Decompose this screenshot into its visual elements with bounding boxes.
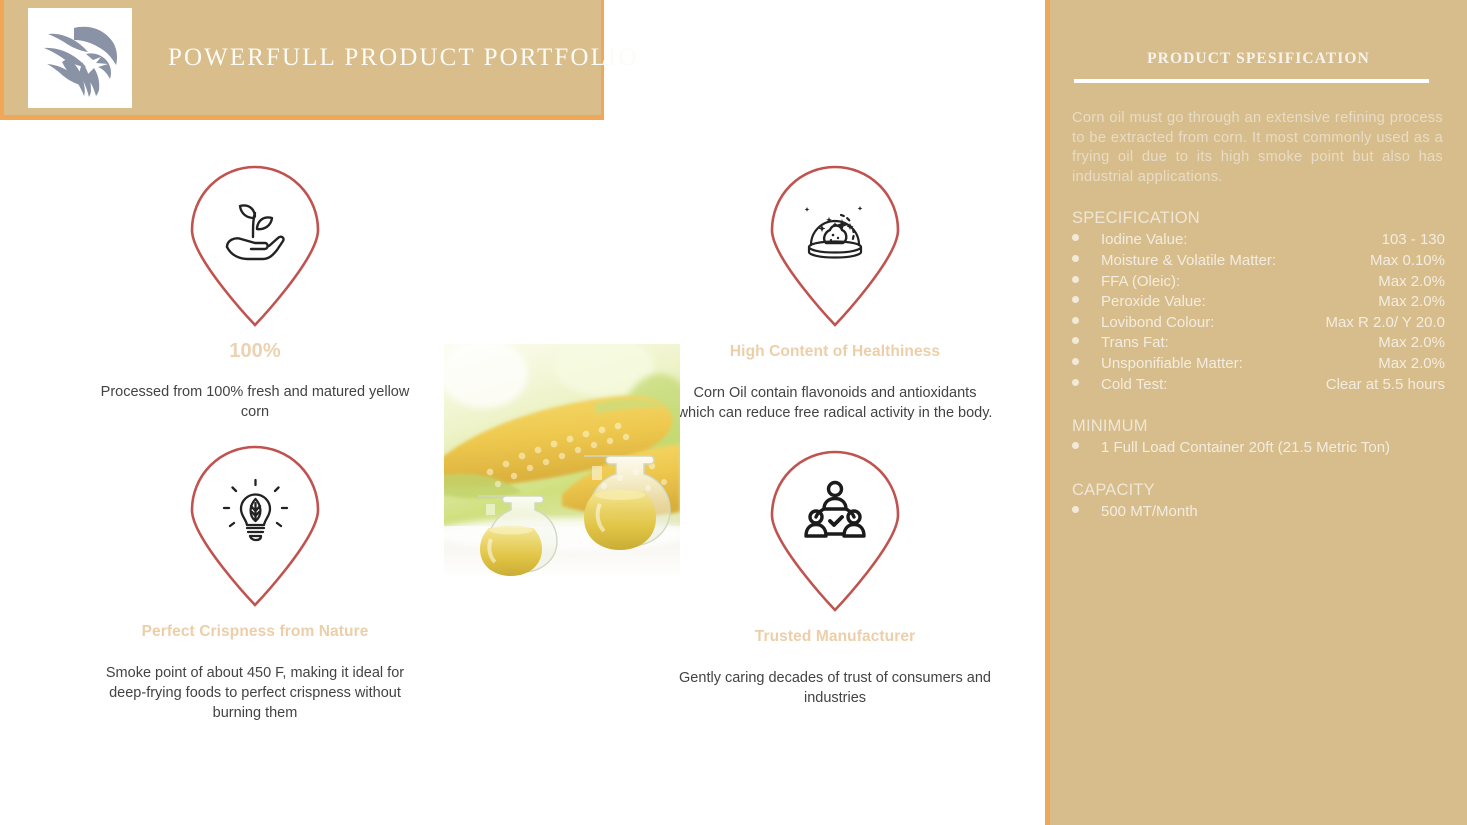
feature-title: Trusted Manufacturer [670, 628, 1000, 646]
spec-label: Lovibond Colour: [1101, 313, 1214, 334]
feature-description: Corn Oil contain flavonoids and antioxid… [670, 383, 1000, 423]
pin-wrapper [90, 445, 420, 610]
feature-card-trusted-manufacturer: Trusted Manufacturer Gently caring decad… [670, 450, 1000, 708]
pin-wrapper [670, 450, 1000, 615]
bullet-icon [1072, 337, 1079, 344]
list-item: Lovibond Colour: Max R 2.0/ Y 20.0 [1050, 313, 1467, 334]
bullet-icon [1072, 317, 1079, 324]
people-group-check-icon [795, 476, 875, 556]
bullet-icon [1072, 379, 1079, 386]
pin-wrapper [670, 165, 1000, 330]
spec-label: Cold Test: [1101, 375, 1167, 396]
spec-value: 103 - 130 [1382, 230, 1467, 251]
minimum-item-text: 1 Full Load Container 20ft (21.5 Metric … [1101, 438, 1445, 459]
spec-value: Max R 2.0/ Y 20.0 [1325, 313, 1467, 334]
feature-description: Smoke point of about 450 F, making it id… [90, 663, 420, 723]
spec-label: Moisture & Volatile Matter: [1101, 251, 1276, 272]
capacity-heading: CAPACITY [1072, 481, 1467, 500]
feature-card-perfect-crispness: Perfect Crispness from Nature Smoke poin… [90, 445, 420, 723]
spec-value: Max 2.0% [1378, 354, 1467, 375]
bullet-icon [1072, 276, 1079, 283]
corn-oil-jars-photo [444, 344, 680, 579]
bullet-icon [1072, 442, 1079, 449]
page-title: POWERFULL PRODUCT PORTFOLIO [168, 44, 639, 72]
capacity-item-text: 500 MT/Month [1101, 502, 1445, 523]
capacity-list: 500 MT/Month [1050, 502, 1467, 523]
map-pin-shape [184, 445, 326, 607]
map-pin-shape [764, 450, 906, 612]
spec-label: Peroxide Value: [1101, 292, 1206, 313]
bullet-icon [1072, 234, 1079, 241]
sidebar-intro-paragraph: Corn oil must go through an extensive re… [1072, 109, 1443, 187]
logo-container [28, 8, 132, 108]
bullet-icon [1072, 506, 1079, 513]
bullet-icon [1072, 296, 1079, 303]
spec-value: Max 2.0% [1378, 272, 1467, 293]
list-item: Unsponifiable Matter: Max 2.0% [1050, 354, 1467, 375]
spec-label: Trans Fat: [1101, 333, 1169, 354]
spec-value: Clear at 5.5 hours [1326, 375, 1467, 396]
product-specification-sidebar: PRODUCT SPESIFICATION Corn oil must go t… [1045, 0, 1467, 825]
map-pin-shape [184, 165, 326, 327]
list-item: FFA (Oleic): Max 2.0% [1050, 272, 1467, 293]
list-item: Iodine Value: 103 - 130 [1050, 230, 1467, 251]
map-pin-shape [764, 165, 906, 327]
spec-value: Max 0.10% [1370, 251, 1467, 272]
spec-label: FFA (Oleic): [1101, 272, 1180, 293]
sidebar-title: PRODUCT SPESIFICATION [1050, 0, 1467, 68]
spec-value: Max 2.0% [1378, 292, 1467, 313]
minimum-heading: MINIMUM [1072, 417, 1467, 436]
eagle-wings-logo-icon [38, 18, 122, 98]
spec-label: Iodine Value: [1101, 230, 1187, 251]
list-item: Cold Test: Clear at 5.5 hours [1050, 375, 1467, 396]
food-dome-sparkle-icon [795, 191, 875, 271]
list-item: 1 Full Load Container 20ft (21.5 Metric … [1050, 438, 1467, 459]
lightbulb-leaf-icon [215, 471, 295, 551]
bullet-icon [1072, 255, 1079, 262]
pin-wrapper [90, 165, 420, 330]
list-item: 500 MT/Month [1050, 502, 1467, 523]
feature-card-high-healthiness: High Content of Healthiness Corn Oil con… [670, 165, 1000, 423]
list-item: Peroxide Value: Max 2.0% [1050, 292, 1467, 313]
feature-title: High Content of Healthiness [670, 343, 1000, 361]
spec-value: Max 2.0% [1378, 333, 1467, 354]
spec-label: Unsponifiable Matter: [1101, 354, 1243, 375]
bullet-icon [1072, 358, 1079, 365]
feature-title: Perfect Crispness from Nature [90, 623, 420, 641]
feature-description: Processed from 100% fresh and matured ye… [90, 382, 420, 422]
feature-card-100-percent: 100% Processed from 100% fresh and matur… [90, 165, 420, 422]
feature-description: Gently caring decades of trust of consum… [670, 668, 1000, 708]
minimum-list: 1 Full Load Container 20ft (21.5 Metric … [1050, 438, 1467, 459]
specification-list: Iodine Value: 103 - 130 Moisture & Volat… [1050, 230, 1467, 395]
title-divider [1074, 79, 1429, 83]
header-bar: POWERFULL PRODUCT PORTFOLIO [0, 0, 604, 120]
specification-heading: SPECIFICATION [1072, 209, 1467, 228]
hand-holding-sprout-icon [215, 191, 295, 271]
list-item: Trans Fat: Max 2.0% [1050, 333, 1467, 354]
feature-title: 100% [90, 340, 420, 363]
list-item: Moisture & Volatile Matter: Max 0.10% [1050, 251, 1467, 272]
